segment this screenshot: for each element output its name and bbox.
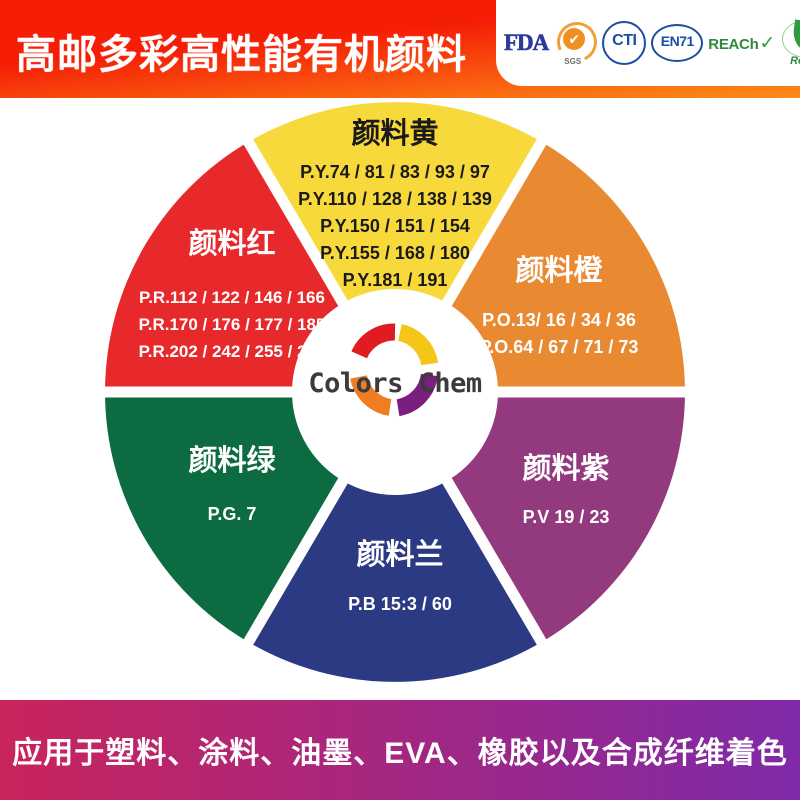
sgs-badge: ✔ SGS (553, 21, 597, 65)
segment-purple-title: 颜料紫 (522, 452, 609, 485)
certification-badge-panel: FDA ✔ SGS CTI EN71 REACh✓ RoHS (496, 0, 800, 86)
page-title: 高邮多彩高性能有机颜料 (16, 22, 467, 80)
segment-yellow-title: 颜料黄 (351, 117, 438, 150)
segment-blue-line: P.B 15:3 / 60 (348, 594, 452, 614)
reach-text: REACh (708, 36, 758, 53)
segment-yellow-line: P.Y.155 / 168 / 180 (320, 243, 470, 263)
logo-arc-yellow (400, 332, 430, 364)
logo-arc-red (359, 332, 395, 355)
sgs-label: SGS (564, 57, 581, 66)
rohs-label: RoHS (790, 55, 800, 67)
footer-text: 应用于塑料、涂料、油墨、EVA、橡胶以及合成纤维着色 (12, 728, 787, 772)
center-logo: Colors Chem (295, 300, 495, 500)
logo-wordmark: Colors Chem (295, 368, 495, 399)
segment-green-title: 颜料绿 (188, 444, 276, 477)
segment-yellow-line: P.Y.181 / 191 (343, 270, 448, 290)
segment-orange-line: P.O.13/ 16 / 34 / 36 (482, 310, 636, 330)
cti-label: CTI (602, 21, 646, 65)
segment-red-title: 颜料红 (188, 227, 275, 260)
cti-badge: CTI (602, 22, 646, 64)
reach-badge: REACh✓ (708, 22, 775, 64)
rohs-badge: RoHS (780, 20, 800, 66)
segment-orange-title: 颜料橙 (515, 254, 603, 287)
header-banner: 高邮多彩高性能有机颜料 FDA ✔ SGS CTI EN71 REACh✓ (0, 0, 800, 98)
segment-blue-title: 颜料兰 (356, 538, 443, 571)
segment-purple-line: P.V 19 / 23 (523, 507, 610, 527)
segment-yellow-line: P.Y.74 / 81 / 83 / 93 / 97 (300, 162, 490, 182)
en71-label: EN71 (651, 24, 703, 62)
poster-root: 高邮多彩高性能有机颜料 FDA ✔ SGS CTI EN71 REACh✓ (0, 0, 800, 800)
fda-badge: FDA (504, 22, 548, 64)
reach-check-icon: ✓ (759, 33, 775, 54)
segment-green-line: P.G. 7 (208, 504, 257, 524)
fda-label: FDA (504, 30, 548, 56)
segment-orange-line: P.O.64 / 67 / 71 / 73 (480, 337, 639, 357)
segment-yellow-line: P.Y.110 / 128 / 138 / 139 (298, 189, 492, 209)
segment-yellow-line: P.Y.150 / 151 / 154 (320, 216, 470, 236)
reach-label: REACh✓ (708, 32, 775, 55)
footer-banner: 应用于塑料、涂料、油墨、EVA、橡胶以及合成纤维着色 (0, 700, 800, 800)
pigment-wheel: 颜料黄 P.Y.74 / 81 / 83 / 93 / 97 P.Y.110 /… (0, 98, 800, 700)
en71-badge: EN71 (651, 22, 703, 64)
